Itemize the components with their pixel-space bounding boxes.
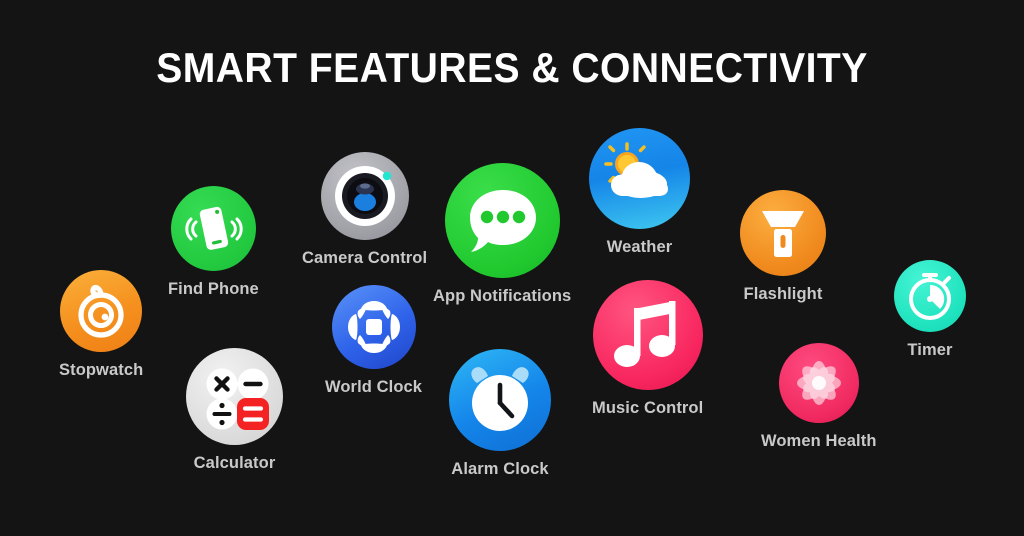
feature-label: World Clock (325, 378, 422, 397)
calculator-icon[interactable] (186, 348, 283, 445)
feature-label: Weather (607, 238, 673, 257)
feature-label: Find Phone (168, 280, 259, 299)
weather-cloud-sun-icon[interactable] (589, 128, 690, 229)
feature-timer[interactable]: Timer (894, 260, 966, 360)
feature-label: Women Health (761, 432, 877, 451)
find-phone-icon[interactable] (171, 186, 256, 271)
feature-label: Flashlight (744, 285, 823, 304)
stopwatch-icon[interactable] (60, 270, 142, 352)
feature-label: Timer (907, 341, 952, 360)
feature-flashlight[interactable]: Flashlight (740, 190, 826, 304)
feature-label: Music Control (592, 399, 703, 418)
feature-label: App Notifications (433, 287, 571, 306)
page-title: SMART FEATURES & CONNECTIVITY (36, 44, 988, 92)
alarm-clock-icon[interactable] (449, 349, 551, 451)
feature-world-clock[interactable]: World Clock (325, 285, 422, 397)
feature-calculator[interactable]: Calculator (186, 348, 283, 473)
feature-label: Calculator (194, 454, 276, 473)
globe-icon[interactable] (332, 285, 416, 369)
timer-icon[interactable] (894, 260, 966, 332)
feature-label: Camera Control (302, 249, 427, 268)
feature-women-health[interactable]: Women Health (761, 343, 877, 451)
feature-find-phone[interactable]: Find Phone (168, 186, 259, 299)
camera-control-icon[interactable] (321, 152, 409, 240)
music-note-icon[interactable] (593, 280, 703, 390)
flower-rosette-icon[interactable] (779, 343, 859, 423)
feature-camera-control[interactable]: Camera Control (302, 152, 427, 268)
feature-alarm-clock[interactable]: Alarm Clock (449, 349, 551, 479)
feature-stopwatch[interactable]: Stopwatch (59, 270, 143, 380)
feature-weather[interactable]: Weather (589, 128, 690, 257)
feature-label: Alarm Clock (451, 460, 548, 479)
smart-features-infographic: SMART FEATURES & CONNECTIVITY Stopwatch (0, 0, 1024, 536)
chat-bubble-icon[interactable] (445, 163, 560, 278)
feature-music-control[interactable]: Music Control (592, 280, 703, 418)
flashlight-icon[interactable] (740, 190, 826, 276)
feature-app-notifications[interactable]: App Notifications (433, 163, 571, 306)
feature-label: Stopwatch (59, 361, 143, 380)
